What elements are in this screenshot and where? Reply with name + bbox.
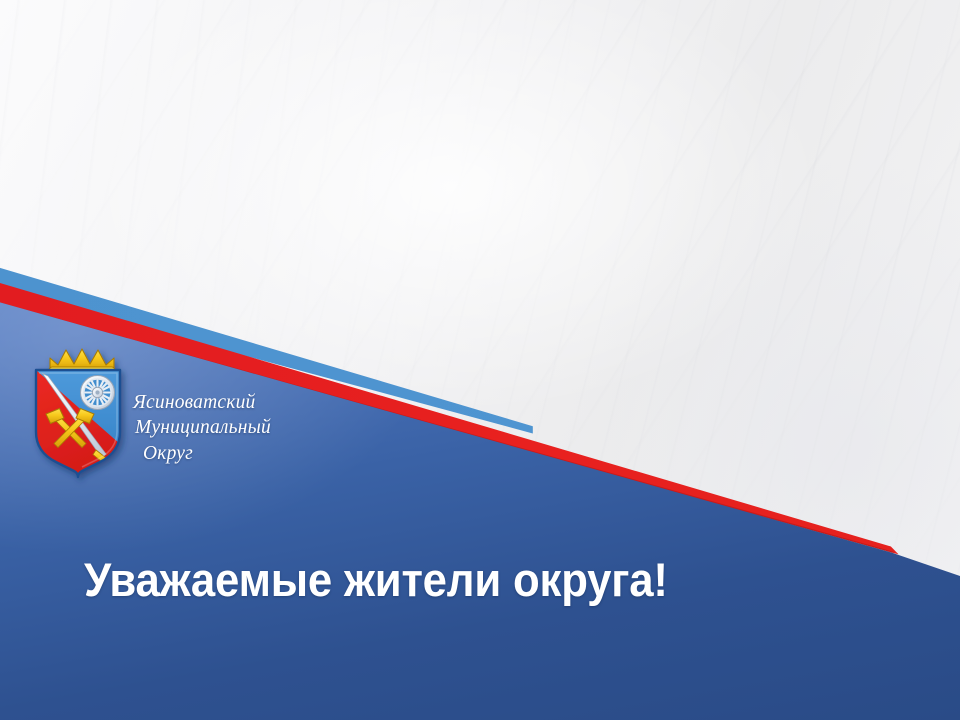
railway-wheel-icon xyxy=(81,376,115,410)
wordmark-line-1: Ясиноватский xyxy=(133,390,343,415)
wordmark-line-3: Округ xyxy=(133,441,343,466)
poster-canvas: Ясиноватский Муниципальный Округ Уважаем… xyxy=(0,0,960,720)
page-headline: Уважаемые жители округа! xyxy=(84,552,668,607)
coat-of-arms xyxy=(22,340,134,492)
wordmark-line-2: Муниципальный xyxy=(133,415,343,440)
municipality-wordmark: Ясиноватский Муниципальный Округ xyxy=(133,390,343,466)
shield xyxy=(36,370,120,480)
